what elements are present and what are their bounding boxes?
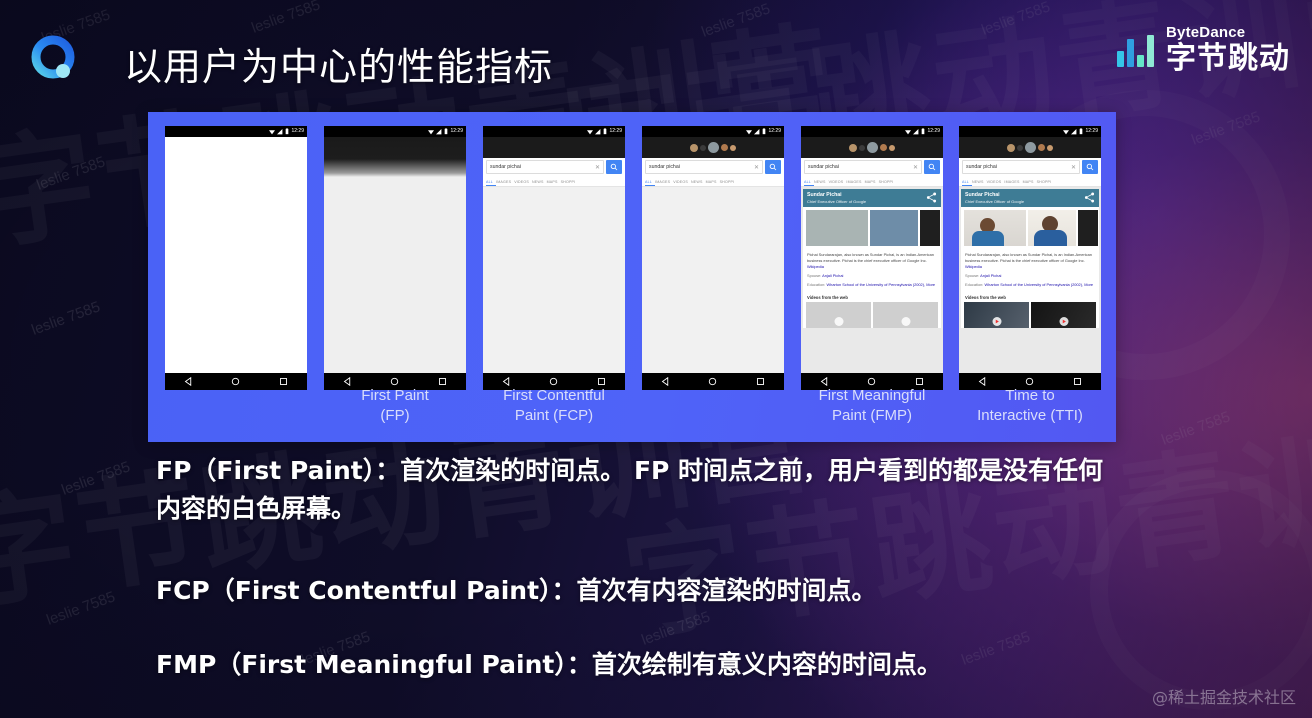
wifi-icon	[746, 129, 752, 135]
fact-spouse: Spouse: Anjali Pichai	[965, 273, 1095, 279]
search-button[interactable]	[606, 160, 622, 174]
tab-images[interactable]: IMAGES	[655, 180, 673, 186]
search-tabs[interactable]: ALL NEWS VIDEOS IMAGES MAPS SHOPPI	[959, 176, 1101, 187]
tab-shopping[interactable]: SHOPPI	[720, 180, 738, 186]
tab-images[interactable]: IMAGES	[846, 180, 864, 186]
phone-screen: sundar pichai ✕ ALL NEWS VIDEOS IMAGES M…	[801, 137, 943, 373]
search-query-text: sundar pichai	[966, 164, 997, 170]
play-icon[interactable]	[834, 317, 843, 326]
phone-mockup-blank: 12:29	[165, 126, 307, 390]
brand-name-cn: 字节跳动	[1166, 44, 1290, 74]
image-placeholder	[806, 210, 868, 246]
phone-screen: sundar pichai ✕ ALL IMAGES VIDEOS NEWS M…	[483, 137, 625, 373]
google-doodle-icon	[959, 137, 1101, 158]
signal-icon	[1071, 129, 1077, 135]
back-icon	[978, 377, 987, 386]
search-input[interactable]: sundar pichai ✕	[645, 160, 763, 174]
search-row: sundar pichai ✕	[959, 158, 1101, 176]
knowledge-panel: Sundar Pichai Chief Executive Officer of…	[961, 189, 1099, 328]
status-time: 12:29	[291, 129, 304, 134]
battery-icon	[285, 128, 289, 135]
search-query-text: sundar pichai	[649, 164, 680, 170]
knowledge-panel-title: Sundar Pichai	[807, 192, 866, 199]
search-tabs[interactable]: ALL IMAGES VIDEOS NEWS MAPS SHOPPI	[483, 176, 625, 187]
fact-label: Education:	[965, 282, 983, 287]
phone-screen	[165, 137, 307, 373]
android-nav-bar	[165, 373, 307, 390]
photo-sundar-pichai-1[interactable]	[964, 210, 1026, 246]
quark-circle-logo-icon	[26, 31, 82, 87]
android-status-bar: 12:29	[324, 126, 466, 137]
wikipedia-link[interactable]: Wikipedia	[807, 264, 824, 269]
video-thumbnail-row	[961, 302, 1099, 328]
tab-videos[interactable]: VIDEOS	[829, 180, 847, 186]
phone-mockup-doodle-loaded: 12:29 sundar pichai ✕	[642, 126, 784, 390]
search-button[interactable]	[1082, 160, 1098, 174]
tab-all[interactable]: ALL	[804, 180, 814, 186]
wifi-icon	[428, 129, 434, 135]
doodle-header-area	[642, 137, 784, 158]
home-icon	[549, 377, 558, 386]
page-title: 以用户为中心的性能指标	[124, 36, 553, 91]
signal-icon	[754, 129, 760, 135]
android-status-bar: 12:29	[642, 126, 784, 137]
signal-icon	[595, 129, 601, 135]
videos-heading: Videos from the web	[961, 291, 1099, 302]
wifi-icon	[269, 129, 275, 135]
search-button[interactable]	[765, 160, 781, 174]
fact-spouse: Spouse: Anjali Pichai	[807, 273, 937, 279]
search-tabs[interactable]: ALL NEWS VIDEOS IMAGES MAPS SHOPPI	[801, 176, 943, 187]
video-thumbnail-placeholder[interactable]	[806, 302, 871, 328]
status-time: 12:29	[609, 129, 622, 134]
fact-education: Education: Wharton School of the Univers…	[965, 282, 1095, 288]
knowledge-panel-header: Sundar Pichai Chief Executive Officer of…	[803, 189, 941, 207]
android-status-bar: 12:29	[959, 126, 1101, 137]
photo-sundar-pichai-2[interactable]	[1028, 210, 1076, 246]
google-doodle-icon	[642, 137, 784, 158]
page-body-block	[324, 177, 466, 373]
play-icon[interactable]	[1059, 317, 1068, 326]
tab-maps[interactable]: MAPS	[865, 180, 879, 186]
tab-images[interactable]: IMAGES	[496, 180, 514, 186]
video-thumbnail[interactable]	[964, 302, 1029, 328]
results-area-empty	[483, 187, 625, 373]
tab-shopping[interactable]: SHOPPI	[879, 180, 897, 186]
phone-caption-time-to-interactive: Time to Interactive (TTI)	[951, 386, 1109, 427]
tab-news[interactable]: NEWS	[972, 180, 987, 186]
search-input[interactable]: sundar pichai ✕	[962, 160, 1080, 174]
tab-news[interactable]: NEWS	[691, 180, 706, 186]
doodle-header-area	[801, 137, 943, 158]
fact-value[interactable]: Anjali Pichai	[980, 273, 1001, 278]
knowledge-panel-description: Pichai Sundararajan, also known as Sunda…	[965, 252, 1095, 270]
recents-icon	[279, 377, 288, 386]
brand-name-en: ByteDance	[1166, 25, 1290, 40]
search-icon	[610, 163, 618, 171]
battery-icon	[603, 128, 607, 135]
paragraph-fmp: FMP（First Meaningful Paint）：首次绘制有意义内容的时间…	[156, 646, 1116, 684]
doodle-header-area	[483, 137, 625, 158]
fact-value[interactable]: Wharton School of the University of Penn…	[984, 282, 1083, 287]
phone-mockup-first-contentful-paint: 12:29 sundar pichai ✕ ALL IMAGES VIDEOS …	[483, 126, 625, 390]
fact-more-link[interactable]: More	[926, 282, 935, 287]
corner-watermark: @稀土掘金技术社区	[1152, 684, 1296, 708]
home-icon	[390, 377, 399, 386]
clear-icon[interactable]: ✕	[595, 164, 600, 171]
wifi-icon	[905, 129, 911, 135]
wifi-icon	[587, 129, 593, 135]
battery-icon	[1079, 128, 1083, 135]
bar-chart-logo-icon	[1117, 33, 1154, 67]
phone-caption-first-meaningful-paint: First Meaningful Paint (FMP)	[794, 386, 950, 427]
phone-mockup-first-meaningful-paint: 12:29 sundar pichai ✕	[801, 126, 943, 390]
tab-videos[interactable]: VIDEOS	[514, 180, 532, 186]
phone-screen: sundar pichai ✕ ALL NEWS VIDEOS IMAGES M…	[959, 137, 1101, 373]
image-placeholder	[920, 210, 940, 246]
android-nav-bar	[642, 373, 784, 390]
recents-icon	[915, 377, 924, 386]
tab-news[interactable]: NEWS	[814, 180, 829, 186]
recents-icon	[756, 377, 765, 386]
description-text: Pichai Sundararajan, also known as Sunda…	[965, 252, 1092, 263]
fact-education: Education: Wharton School of the Univers…	[807, 282, 937, 288]
phone-screen	[324, 137, 466, 373]
knowledge-panel-subtitle: Chief Executive Officer of Google	[965, 199, 1024, 204]
search-icon	[928, 163, 936, 171]
back-icon	[661, 377, 670, 386]
wifi-icon	[1063, 129, 1069, 135]
recents-icon	[438, 377, 447, 386]
clear-icon[interactable]: ✕	[754, 164, 759, 171]
tab-maps[interactable]: MAPS	[1023, 180, 1037, 186]
back-icon	[502, 377, 511, 386]
knowledge-panel: Sundar Pichai Chief Executive Officer of…	[803, 189, 941, 328]
filmstrip-panel: 12:29 12:29 First Paint (FP)	[148, 112, 1116, 442]
video-thumbnail-placeholder[interactable]	[873, 302, 938, 328]
tab-maps[interactable]: MAPS	[547, 180, 561, 186]
share-icon[interactable]	[1084, 192, 1095, 203]
back-icon	[820, 377, 829, 386]
home-icon	[1025, 377, 1034, 386]
fact-more-link[interactable]: More	[1084, 282, 1093, 287]
battery-icon	[921, 128, 925, 135]
search-row: sundar pichai ✕	[801, 158, 943, 176]
slide-header: 以用户为中心的性能指标 ByteDance 字节跳动	[0, 0, 1312, 112]
knowledge-panel-body: Pichai Sundararajan, also known as Sunda…	[961, 249, 1099, 291]
android-status-bar: 12:29	[165, 126, 307, 137]
search-query-text: sundar pichai	[490, 164, 521, 170]
photo-sundar-pichai-3[interactable]	[1078, 210, 1098, 246]
tab-images[interactable]: IMAGES	[1004, 180, 1022, 186]
back-icon	[343, 377, 352, 386]
signal-icon	[277, 129, 283, 135]
clear-icon[interactable]: ✕	[1071, 164, 1076, 171]
battery-icon	[762, 128, 766, 135]
tab-shopping[interactable]: SHOPPI	[1037, 180, 1055, 186]
tab-shopping[interactable]: SHOPPI	[561, 180, 579, 186]
tab-all[interactable]: ALL	[486, 180, 496, 186]
tab-all[interactable]: ALL	[962, 180, 972, 186]
signal-icon	[913, 129, 919, 135]
back-icon	[184, 377, 193, 386]
clear-icon[interactable]: ✕	[913, 164, 918, 171]
knowledge-panel-header: Sundar Pichai Chief Executive Officer of…	[961, 189, 1099, 207]
search-icon	[1086, 163, 1094, 171]
search-input[interactable]: sundar pichai ✕	[486, 160, 604, 174]
image-placeholder	[870, 210, 918, 246]
android-status-bar: 12:29	[483, 126, 625, 137]
paragraph-fcp: FCP（First Contentful Paint）：首次有内容渲染的时间点。	[156, 572, 1116, 610]
status-time: 12:29	[768, 129, 781, 134]
paragraph-fp: FP（First Paint）：首次渲染的时间点。 FP 时间点之前，用户看到的…	[156, 452, 1116, 528]
search-row: sundar pichai ✕	[483, 158, 625, 176]
search-row: sundar pichai ✕	[642, 158, 784, 176]
signal-icon	[436, 129, 442, 135]
video-thumbnail[interactable]	[1031, 302, 1096, 328]
android-status-bar: 12:29	[801, 126, 943, 137]
phone-caption-first-paint: First Paint (FP)	[324, 386, 466, 427]
tab-videos[interactable]: VIDEOS	[987, 180, 1005, 186]
tab-videos[interactable]: VIDEOS	[673, 180, 691, 186]
tab-all[interactable]: ALL	[645, 180, 655, 186]
play-icon[interactable]	[901, 317, 910, 326]
search-tabs[interactable]: ALL IMAGES VIDEOS NEWS MAPS SHOPPI	[642, 176, 784, 187]
home-icon	[867, 377, 876, 386]
dark-header-block	[324, 137, 466, 177]
recents-icon	[597, 377, 606, 386]
description-text: Pichai Sundararajan, also known as Sunda…	[807, 252, 934, 263]
fact-value[interactable]: Wharton School of the University of Penn…	[826, 282, 925, 287]
knowledge-panel-title: Sundar Pichai	[965, 192, 1024, 199]
wikipedia-link[interactable]: Wikipedia	[965, 264, 982, 269]
knowledge-panel-image-placeholders	[803, 207, 941, 249]
search-query-text: sundar pichai	[808, 164, 839, 170]
search-icon	[769, 163, 777, 171]
phone-mockup-first-paint: 12:29	[324, 126, 466, 390]
videos-heading: Videos from the web	[803, 291, 941, 302]
play-icon[interactable]	[992, 317, 1001, 326]
fact-label: Education:	[807, 282, 825, 287]
results-area-empty	[642, 187, 784, 373]
knowledge-panel-subtitle: Chief Executive Officer of Google	[807, 199, 866, 204]
knowledge-panel-images	[961, 207, 1099, 249]
google-doodle-icon	[801, 137, 943, 158]
fact-value[interactable]: Anjali Pichai	[822, 273, 843, 278]
phone-screen: sundar pichai ✕ ALL IMAGES VIDEOS NEWS M…	[642, 137, 784, 373]
fact-label: Spouse:	[965, 273, 979, 278]
fact-label: Spouse:	[807, 273, 821, 278]
search-button[interactable]	[924, 160, 940, 174]
knowledge-panel-body: Pichai Sundararajan, also known as Sunda…	[803, 249, 941, 291]
tab-maps[interactable]: MAPS	[706, 180, 720, 186]
home-icon	[708, 377, 717, 386]
search-input[interactable]: sundar pichai ✕	[804, 160, 922, 174]
bytedance-brand: ByteDance 字节跳动	[1117, 25, 1290, 74]
recents-icon	[1073, 377, 1082, 386]
phone-mockup-time-to-interactive: 12:29 sundar pichai ✕	[959, 126, 1101, 390]
video-thumbnail-row	[803, 302, 941, 328]
status-time: 12:29	[1085, 129, 1098, 134]
status-time: 12:29	[450, 129, 463, 134]
status-time: 12:29	[927, 129, 940, 134]
phone-caption-first-contentful-paint: First Contentful Paint (FCP)	[478, 386, 630, 427]
tab-news[interactable]: NEWS	[532, 180, 547, 186]
share-icon[interactable]	[926, 192, 937, 203]
home-icon	[231, 377, 240, 386]
battery-icon	[444, 128, 448, 135]
knowledge-panel-description: Pichai Sundararajan, also known as Sunda…	[807, 252, 937, 270]
doodle-header-area	[959, 137, 1101, 158]
